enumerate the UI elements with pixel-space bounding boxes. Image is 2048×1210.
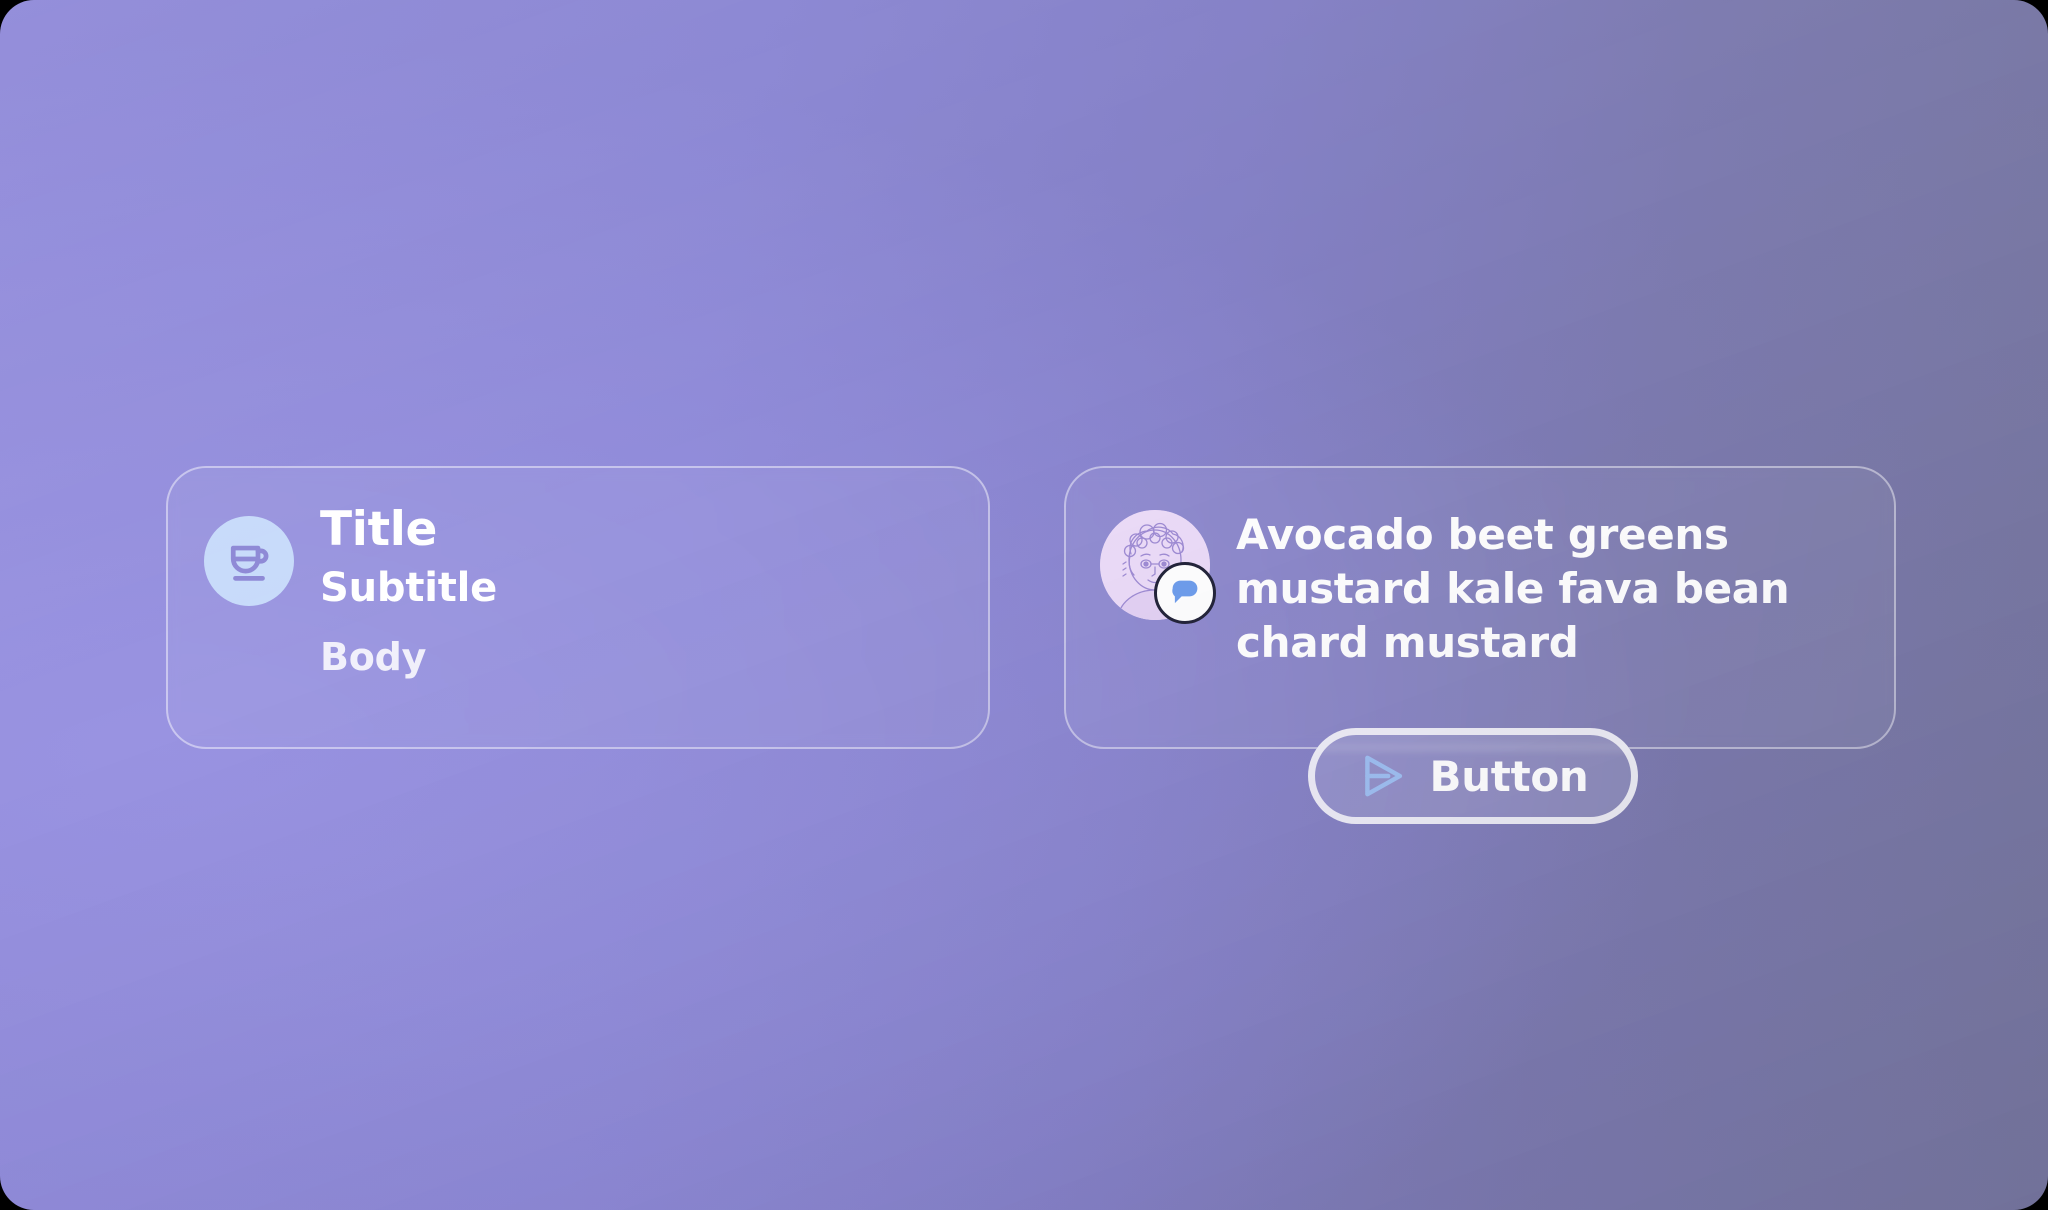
avatar[interactable] xyxy=(1100,510,1210,620)
rich-message-card[interactable]: Avocado beet greens mustard kale fava be… xyxy=(1064,466,1896,749)
card-subtitle: Subtitle xyxy=(320,565,497,612)
chat-badge xyxy=(1154,562,1216,624)
send-icon xyxy=(1357,750,1409,802)
card-icon-circle xyxy=(204,516,294,606)
basic-info-card[interactable]: Title Subtitle Body xyxy=(166,466,990,749)
send-button[interactable]: Button xyxy=(1308,728,1638,824)
rich-card-text: Avocado beet greens mustard kale fava be… xyxy=(1236,494,1836,669)
screen-canvas: Title Subtitle Body xyxy=(0,0,2048,1210)
send-button-label: Button xyxy=(1429,752,1588,801)
card-body: Body xyxy=(320,635,497,680)
card-title: Title xyxy=(320,502,497,557)
chat-bubble-icon xyxy=(1167,575,1203,611)
basic-card-text-column: Title Subtitle Body xyxy=(320,496,497,679)
coffee-cup-icon xyxy=(222,534,276,588)
